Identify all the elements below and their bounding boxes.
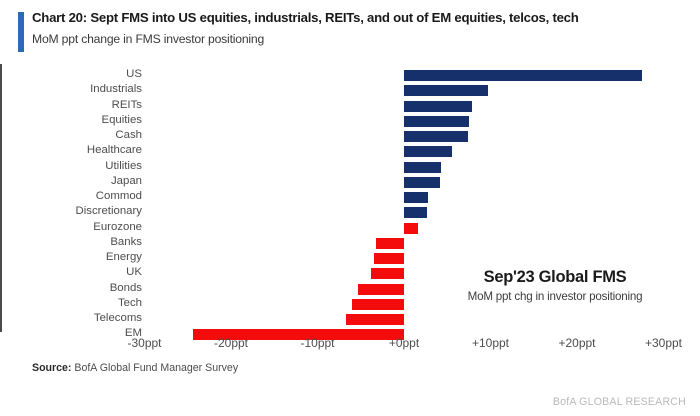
bar-utilities [404, 162, 441, 173]
source-note: Source: BofA Global Fund Manager Survey [32, 362, 238, 374]
bar-telecoms [346, 314, 404, 325]
bar-bonds [358, 284, 404, 295]
chart-title: Chart 20: Sept FMS into US equities, ind… [32, 10, 579, 25]
x-tick-label: +0ppt [389, 336, 419, 350]
annotation-title: Sep'23 Global FMS [430, 268, 680, 287]
research-watermark: BofA GLOBAL RESEARCH [553, 396, 686, 408]
source-label: Source: [32, 362, 71, 374]
x-tick-label: -30ppt [127, 336, 161, 350]
chart-header: Chart 20: Sept FMS into US equities, ind… [18, 10, 690, 54]
bar-us [404, 70, 642, 81]
chart-subtitle: MoM ppt change in FMS investor positioni… [32, 32, 264, 46]
chart-page: Chart 20: Sept FMS into US equities, ind… [0, 0, 700, 416]
bar-discretionary [404, 207, 427, 218]
bar-eurozone [404, 223, 418, 234]
bar-energy [374, 253, 404, 264]
bar-japan [404, 177, 440, 188]
x-axis-ticks: -30ppt-20ppt-10ppt+0ppt+10ppt+20ppt+30pp… [0, 336, 700, 358]
source-text: BofA Global Fund Manager Survey [74, 362, 238, 374]
header-accent-bar [18, 12, 24, 52]
bar-industrials [404, 85, 488, 96]
x-tick-label: +10ppt [472, 336, 509, 350]
x-tick-label: -10ppt [300, 336, 334, 350]
bar-cash [404, 131, 468, 142]
chart-annotation: Sep'23 Global FMS MoM ppt chg in investo… [430, 268, 680, 303]
annotation-subtitle: MoM ppt chg in investor positioning [430, 290, 680, 303]
bar-equities [404, 116, 469, 127]
x-tick-label: +20ppt [558, 336, 595, 350]
x-tick-label: -20ppt [214, 336, 248, 350]
bar-tech [352, 299, 404, 310]
bar-banks [376, 238, 404, 249]
zero-axis-line [0, 64, 2, 332]
bar-healthcare [404, 146, 452, 157]
x-tick-label: +30ppt [645, 336, 682, 350]
bar-uk [371, 268, 404, 279]
bar-commod [404, 192, 428, 203]
bar-reits [404, 101, 472, 112]
